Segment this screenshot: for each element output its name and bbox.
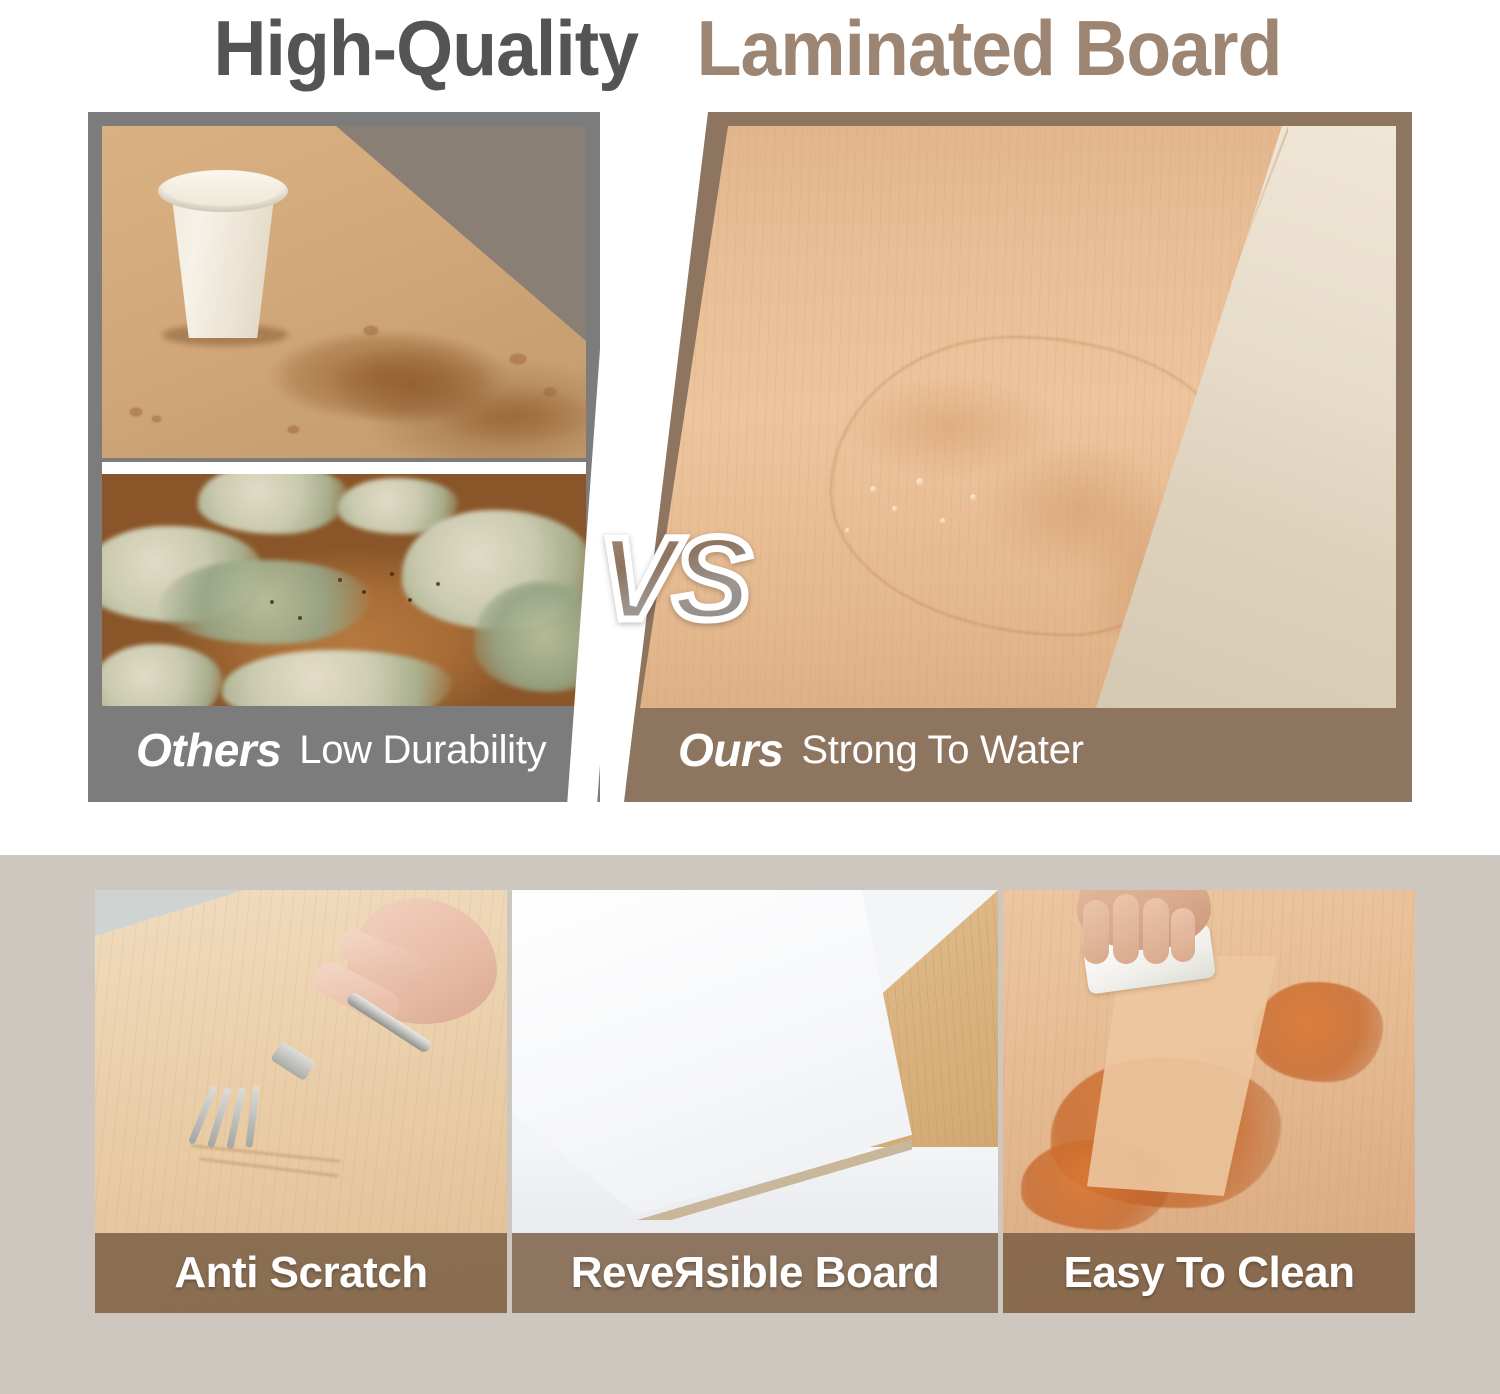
others-spill-photo <box>102 126 586 458</box>
mold-patch <box>198 474 348 534</box>
title-part-laminated-board: Laminated Board <box>696 9 1281 87</box>
finger <box>1083 900 1109 964</box>
spill-droplet <box>288 426 299 433</box>
water-bead <box>892 506 898 512</box>
spill-droplet <box>544 388 556 396</box>
mold-speck <box>436 582 440 586</box>
mold-patch <box>102 644 222 706</box>
feature-caption-reversible-board: ReveRsible Board <box>512 1233 998 1313</box>
ours-panel: Ours Strong To Water <box>600 112 1412 802</box>
spill-droplet <box>364 326 378 335</box>
title-part-high-quality: High-Quality <box>214 9 639 87</box>
mold-speck <box>338 578 342 582</box>
product-infographic: High-Quality Laminated Board <box>0 0 1500 1394</box>
cup-interior <box>168 176 278 206</box>
others-mold-photo <box>102 474 586 706</box>
feature-reversible-board: ReveRsible Board <box>512 890 998 1313</box>
mold-speck <box>362 590 366 594</box>
sauce-stain <box>1253 982 1383 1082</box>
mold-speck <box>408 598 412 602</box>
water-bead <box>870 486 877 493</box>
mold-patch <box>160 560 370 644</box>
spill-droplet <box>510 354 526 364</box>
vs-badge: VS <box>598 520 747 638</box>
mirrored-r-letter: R <box>674 1248 705 1298</box>
ours-label-light: Strong To Water <box>801 728 1083 773</box>
paper-cup <box>158 164 288 340</box>
water-bead <box>940 518 946 524</box>
finger <box>1143 898 1169 964</box>
others-panel: Others Low Durability <box>88 112 600 802</box>
mold-speck <box>270 600 274 604</box>
mold-patch <box>222 650 452 706</box>
others-label-strong: Others <box>136 723 281 777</box>
water-bead <box>916 478 924 486</box>
ours-label-bar: Ours Strong To Water <box>624 712 1412 788</box>
others-label-light: Low Durability <box>299 728 546 773</box>
features-section: Anti Scratch ReveRsible Board <box>0 855 1500 1394</box>
feature-caption-anti-scratch: Anti Scratch <box>95 1233 507 1313</box>
ours-water-photo <box>640 126 1396 708</box>
others-label-bar: Others Low Durability <box>102 712 586 788</box>
feature-easy-to-clean: Easy To Clean <box>1003 890 1415 1313</box>
finger <box>1171 908 1195 962</box>
caption-prefix: Reve <box>571 1248 674 1298</box>
finger <box>1113 894 1139 964</box>
mold-speck <box>298 616 302 620</box>
comparison-section: Others Low Durability Ours Strong <box>0 100 1500 820</box>
mold-speck <box>390 572 394 576</box>
spill-droplet <box>152 416 161 422</box>
spill-droplet <box>130 408 142 416</box>
page-title: High-Quality Laminated Board <box>0 0 1500 95</box>
ours-label-strong: Ours <box>678 723 783 777</box>
coffee-spill <box>252 304 586 458</box>
water-bead <box>970 494 977 501</box>
photo-divider <box>102 462 586 474</box>
feature-anti-scratch: Anti Scratch <box>95 890 507 1313</box>
feature-caption-easy-to-clean: Easy To Clean <box>1003 1233 1415 1313</box>
water-bead <box>845 528 850 533</box>
caption-suffix: sible Board <box>705 1248 939 1298</box>
